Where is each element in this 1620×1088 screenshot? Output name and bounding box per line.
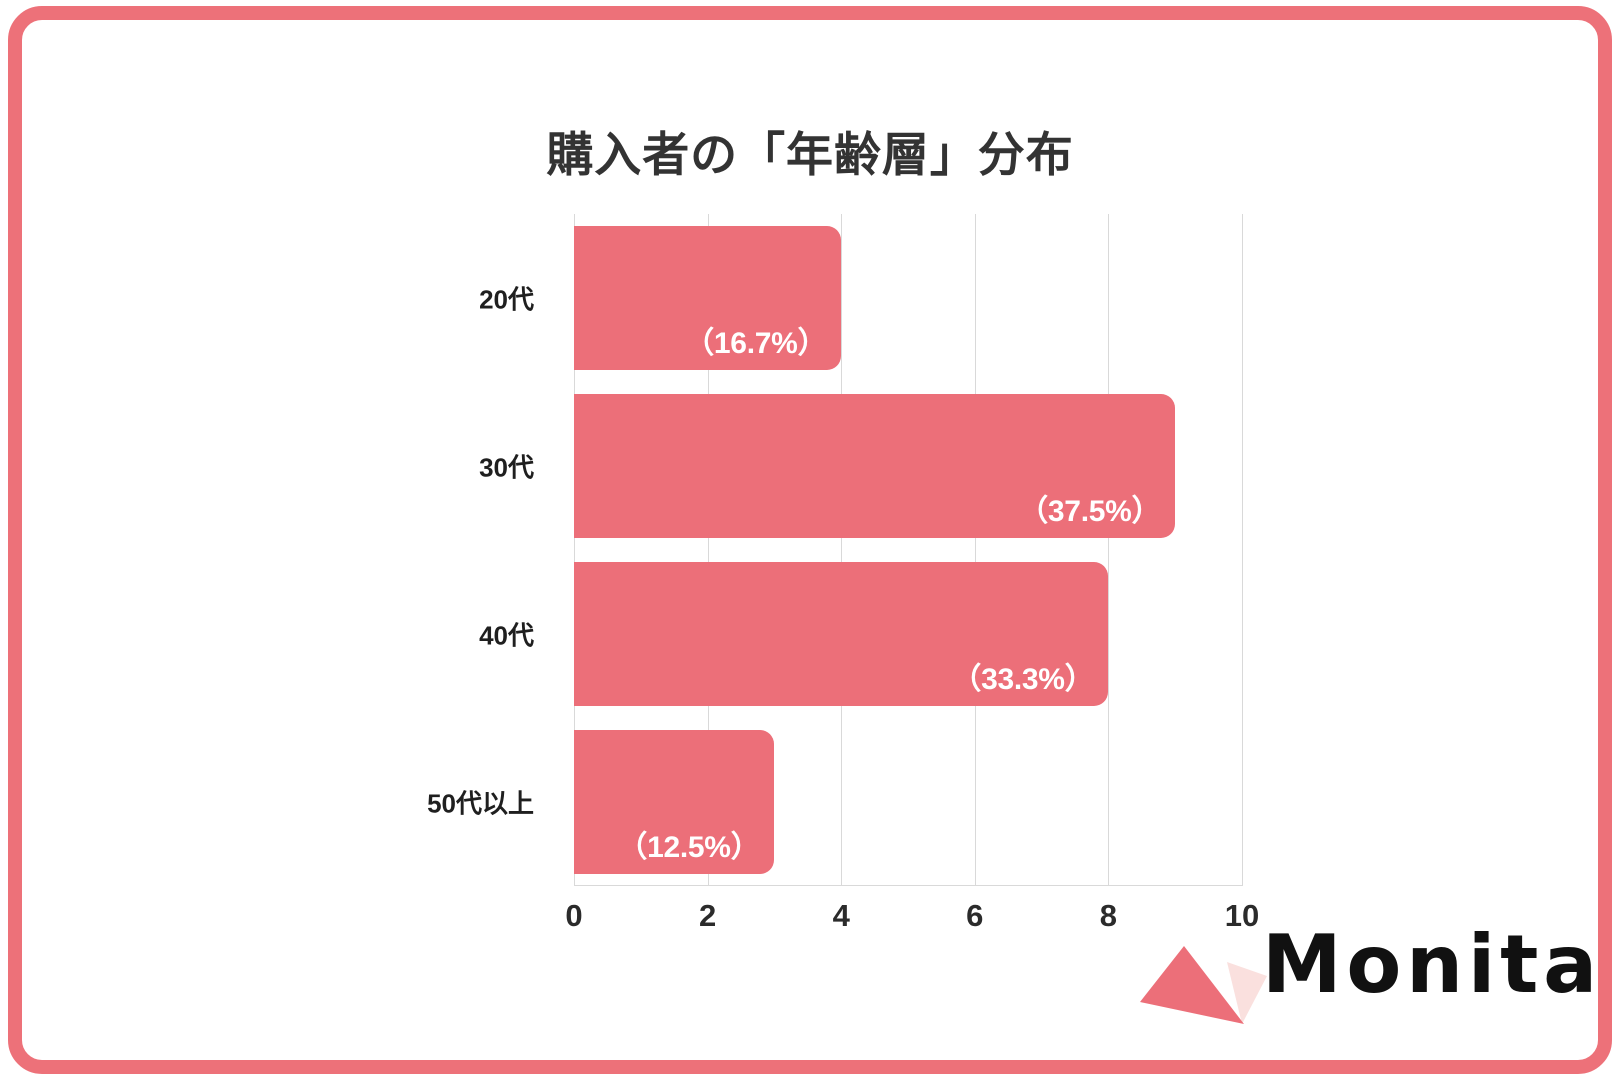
y-category-label-50代以上: 50代以上 <box>22 784 554 821</box>
x-tick-label-6: 6 <box>966 898 983 934</box>
plot-area: 0246810（16.7%）（37.5%）（33.3%）（12.5%） <box>574 214 1242 886</box>
logo-wordmark: Monita <box>1262 918 1602 1011</box>
chart-card: 購入者の「年齢層」分布 0246810（16.7%）（37.5%）（33.3%）… <box>22 20 1598 1060</box>
bar-30代[interactable]: （37.5%） <box>574 394 1175 538</box>
monita-logo: Monita <box>1132 920 1552 1030</box>
bar-row[interactable]: （33.3%） <box>574 562 1242 706</box>
x-tick-label-2: 2 <box>699 898 716 934</box>
x-tick-label-4: 4 <box>833 898 850 934</box>
x-tick-label-0: 0 <box>565 898 582 934</box>
gridline-x-10 <box>1242 214 1243 886</box>
bar-row[interactable]: （37.5%） <box>574 394 1242 538</box>
logo-triangle-icon <box>1132 924 1282 1024</box>
y-category-label-40代: 40代 <box>22 616 554 653</box>
bar-value-label: （16.7%） <box>684 318 827 362</box>
bar-row[interactable]: （12.5%） <box>574 730 1242 874</box>
bar-row[interactable]: （16.7%） <box>574 226 1242 370</box>
bar-value-label: （37.5%） <box>1018 486 1161 530</box>
outer-frame: 購入者の「年齢層」分布 0246810（16.7%）（37.5%）（33.3%）… <box>8 6 1612 1074</box>
x-axis-baseline <box>574 885 1242 886</box>
bar-20代[interactable]: （16.7%） <box>574 226 841 370</box>
y-category-label-30代: 30代 <box>22 448 554 485</box>
x-tick-label-8: 8 <box>1100 898 1117 934</box>
bar-value-label: （33.3%） <box>951 654 1094 698</box>
bar-value-label: （12.5%） <box>617 822 760 866</box>
bar-40代[interactable]: （33.3%） <box>574 562 1108 706</box>
bar-50代以上[interactable]: （12.5%） <box>574 730 774 874</box>
y-category-label-20代: 20代 <box>22 280 554 317</box>
